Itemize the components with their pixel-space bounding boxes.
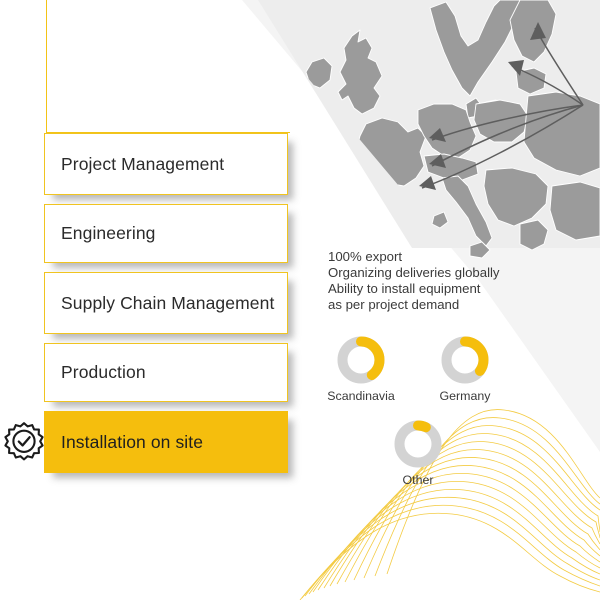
slide-canvas: Project Management Engineering Supply Ch… bbox=[0, 0, 600, 600]
gear-check-icon bbox=[2, 420, 46, 464]
process-card-label: Project Management bbox=[61, 153, 224, 176]
process-card-label: Production bbox=[61, 361, 146, 384]
donut-label: Scandinavia bbox=[327, 389, 395, 403]
fact-line-1: 100% export bbox=[328, 249, 578, 265]
donut-label: Germany bbox=[440, 389, 491, 403]
donut-chart-scandinavia bbox=[337, 336, 385, 384]
guide-rule-vertical bbox=[46, 0, 47, 133]
process-card-engineering[interactable]: Engineering bbox=[44, 204, 288, 263]
process-card-list: Project Management Engineering Supply Ch… bbox=[44, 133, 290, 482]
fact-line-3: Ability to install equipment bbox=[328, 281, 578, 297]
process-card-label: Engineering bbox=[61, 222, 156, 245]
process-card-label: Installation on site bbox=[61, 431, 203, 454]
process-card-label: Supply Chain Management bbox=[61, 292, 274, 315]
fact-line-2: Organizing deliveries globally bbox=[328, 265, 578, 281]
donut-germany: Germany bbox=[424, 336, 506, 403]
process-card-installation-on-site[interactable]: Installation on site bbox=[44, 411, 288, 473]
donut-other: Other bbox=[377, 420, 459, 487]
donut-scandinavia: Scandinavia bbox=[320, 336, 402, 403]
donut-chart-other bbox=[394, 420, 442, 468]
fact-line-4: as per project demand bbox=[328, 297, 578, 313]
export-facts: 100% export Organizing deliveries global… bbox=[328, 249, 578, 313]
donut-chart-germany bbox=[441, 336, 489, 384]
process-card-supply-chain-management[interactable]: Supply Chain Management bbox=[44, 272, 288, 334]
process-card-project-management[interactable]: Project Management bbox=[44, 133, 288, 195]
market-share-donuts: Scandinavia Germany Other bbox=[320, 336, 560, 487]
donut-label: Other bbox=[403, 473, 434, 487]
process-card-production[interactable]: Production bbox=[44, 343, 288, 402]
